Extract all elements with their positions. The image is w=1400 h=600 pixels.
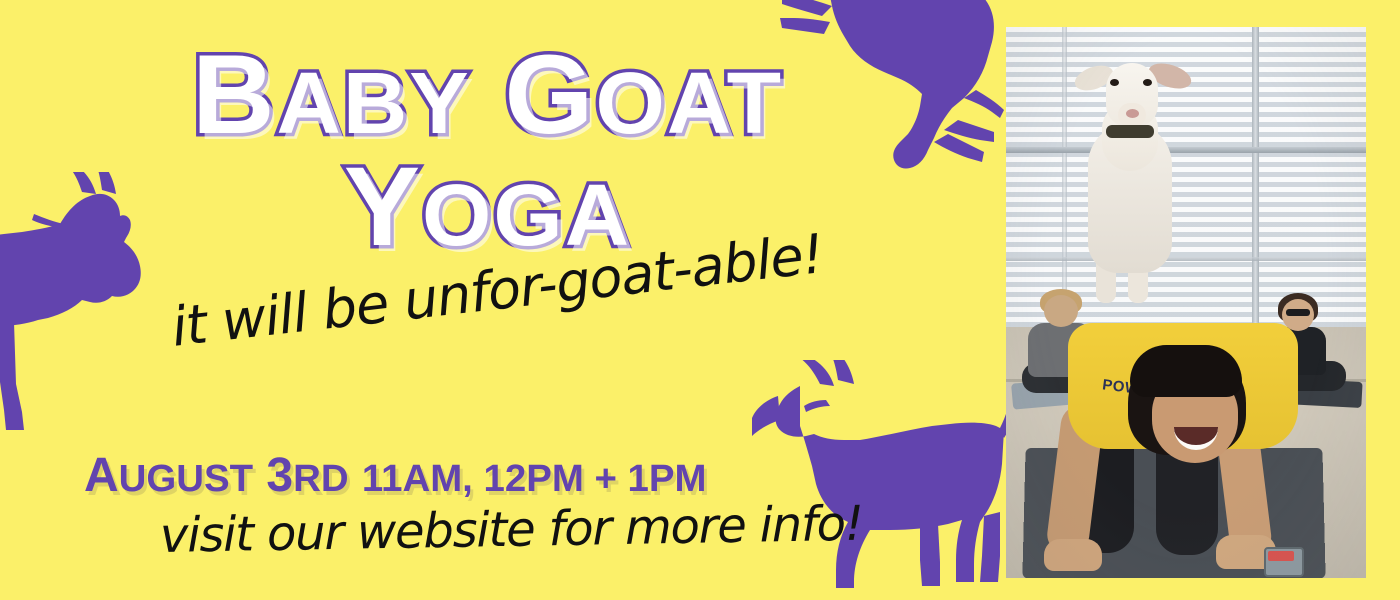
promo-banner: BABY GOAT YOGA it will be unfor-goat-abl…: [0, 0, 1400, 600]
event-photo: POWDERPUFF: [1006, 27, 1366, 578]
headline-y: Y: [344, 144, 422, 269]
schedule-month-initial: A: [84, 449, 119, 502]
phone-screen: [1268, 551, 1294, 561]
window-mullion-horizontal-upper: [1006, 147, 1366, 153]
window-mullion-horizontal-lower: [1006, 257, 1366, 261]
headline-aby: ABY: [276, 54, 470, 152]
baby-goat-collar: [1106, 125, 1154, 138]
background-person-right-sunglasses: [1286, 309, 1310, 316]
headline-g: G: [505, 32, 596, 157]
woman-hand-left: [1044, 539, 1102, 571]
schedule-times: 11AM, 12PM + 1PM: [362, 457, 707, 500]
baby-goat-nose: [1126, 109, 1139, 118]
schedule-day: 3: [266, 449, 293, 502]
baby-goat-eye-left: [1110, 79, 1119, 86]
goat-silhouette-icon-bottom-right: [752, 360, 1016, 598]
window-mullion-vertical-right: [1252, 27, 1259, 357]
schedule-day-suffix: RD: [293, 457, 348, 500]
schedule-line: AUGUST 3RD 11AM, 12PM + 1PM: [84, 448, 707, 503]
baby-goat-eye-right: [1143, 79, 1152, 86]
background-person-left-head: [1044, 295, 1078, 327]
headline-b: B: [192, 32, 277, 157]
headline-oat: OAT: [595, 54, 783, 152]
headline-line-baby-goat: BABY GOAT: [0, 42, 985, 148]
schedule-month-rest: UGUST: [119, 457, 253, 500]
woman-hair-front: [1130, 345, 1242, 397]
